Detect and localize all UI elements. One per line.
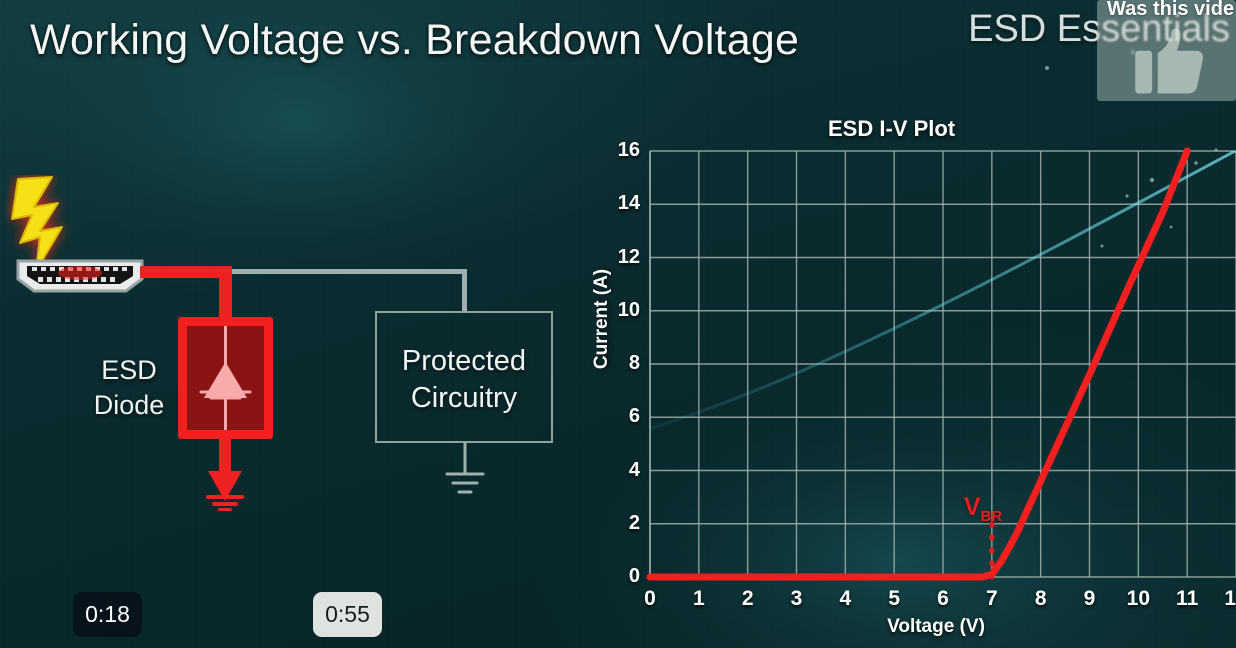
wire-to-protected-vertical xyxy=(462,269,467,313)
hdmi-connector-icon xyxy=(14,255,146,295)
circuit-diagram: ESD Diode Protected Circuitry xyxy=(0,175,600,555)
protected-circuitry-block: Protected Circuitry xyxy=(375,311,553,443)
timestamp-chip-total[interactable]: 0:55 xyxy=(313,592,382,637)
chart-background-cyan-curve xyxy=(618,128,1236,438)
breakdown-voltage-annotation-label: VBR xyxy=(964,493,1002,525)
chart-gridlines xyxy=(650,151,1236,577)
chart-plot-area xyxy=(578,108,1236,648)
survey-question-text: Was this vide xyxy=(1107,0,1234,21)
vbr-symbol: V xyxy=(964,493,981,521)
zener-diode-icon xyxy=(187,326,264,430)
esd-diode-block xyxy=(178,317,273,439)
vbr-subscript: BR xyxy=(981,508,1003,525)
video-survey-overlay[interactable]: Was this vide xyxy=(1097,0,1236,101)
esd-ground-path xyxy=(200,439,250,511)
wire-to-protected-horizontal xyxy=(232,269,466,274)
thumbs-up-icon[interactable] xyxy=(1131,26,1207,98)
timestamp-chip-current[interactable]: 0:18 xyxy=(73,592,142,637)
esd-diode-label: ESD Diode xyxy=(88,353,170,422)
page-title: Working Voltage vs. Breakdown Voltage xyxy=(30,16,799,65)
protected-ground-symbol-icon xyxy=(442,443,488,503)
protected-circuitry-label: Protected Circuitry xyxy=(377,343,551,417)
slide-canvas: Working Voltage vs. Breakdown Voltage ES… xyxy=(0,0,1236,648)
esd-iv-chart: ESD I-V Plot Current (A) Voltage (V) 024… xyxy=(578,108,1236,648)
